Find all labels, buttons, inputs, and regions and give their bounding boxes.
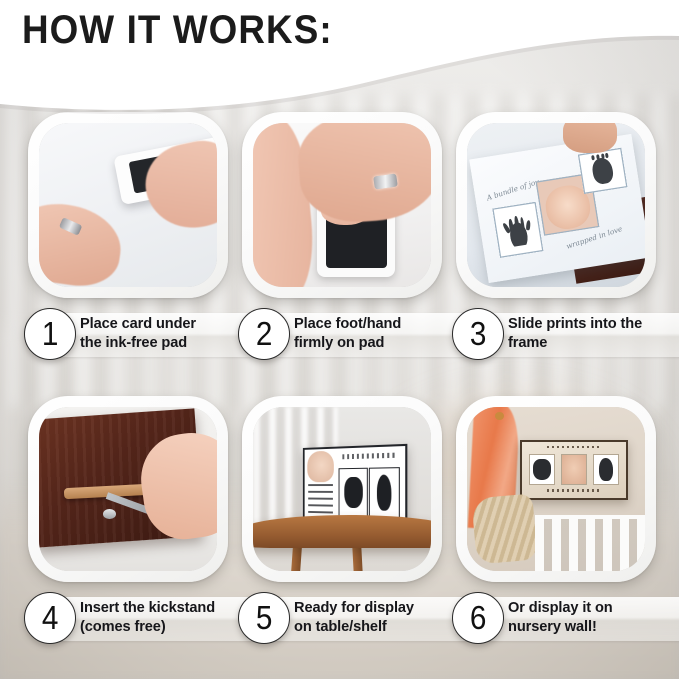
step-5-label-row: 5 Ready for display on table/shelf xyxy=(236,592,465,648)
table-leg-right xyxy=(352,545,362,571)
step-4-number: 4 xyxy=(42,601,59,634)
footprint-shape xyxy=(599,458,613,481)
photo-slide-prints-into-frame: A bundle of joy wrapped in love xyxy=(467,123,645,287)
wall-frame-text-top xyxy=(547,446,601,449)
mat-script-top: A bundle of joy xyxy=(486,177,541,202)
footprint-shape xyxy=(377,475,392,511)
footprint-cell xyxy=(369,468,400,521)
baby-photo-cell xyxy=(561,454,588,485)
step-3-label-line1: Slide prints into the xyxy=(508,315,679,334)
step-3-photo-tile: A bundle of joy wrapped in love xyxy=(456,112,656,298)
step-3-number-badge: 3 xyxy=(452,308,504,360)
handprint-shape xyxy=(533,459,551,480)
handprint-cell xyxy=(492,202,543,258)
step-5-number: 5 xyxy=(256,601,273,634)
step-5: 5 Ready for display on table/shelf xyxy=(236,396,451,582)
page-title: HOW IT WORKS: xyxy=(22,8,333,53)
footprint-cell xyxy=(593,454,620,485)
handprint-cell xyxy=(339,469,368,521)
step-6-label-text: Or display it on nursery wall! xyxy=(508,599,679,638)
knit-blanket xyxy=(471,493,537,564)
wall-frame xyxy=(520,440,627,500)
step-2-number-badge: 2 xyxy=(238,308,290,360)
step-2-label-row: 2 Place foot/hand firmly on pad xyxy=(236,308,465,364)
step-6-photo-inner xyxy=(467,407,645,571)
step-3-label-text: Slide prints into the frame xyxy=(508,315,679,354)
white-crib xyxy=(535,515,645,571)
screw-head xyxy=(103,509,115,519)
baby-photo-shape xyxy=(308,451,334,482)
table-leg-left xyxy=(291,544,302,571)
step-3-number: 3 xyxy=(470,317,487,350)
step-6-label-row: 6 Or display it on nursery wall! xyxy=(450,592,679,648)
step-4-number-badge: 4 xyxy=(24,592,76,644)
step-4-photo-tile xyxy=(28,396,228,582)
step-3-photo-inner: A bundle of joy wrapped in love xyxy=(467,123,645,287)
step-6-label-line2: nursery wall! xyxy=(508,618,679,637)
left-hand-shape xyxy=(39,198,126,287)
footprint-cell xyxy=(578,148,628,194)
photo-display-on-nursery-wall xyxy=(467,407,645,571)
handprint-cell xyxy=(529,454,556,485)
frame-quote-text xyxy=(309,485,334,519)
wall-frame-text-bottom xyxy=(547,489,601,492)
step-3-label-row: 3 Slide prints into the frame xyxy=(450,308,679,364)
step-2-photo-tile xyxy=(242,112,442,298)
thumb-holding-frame xyxy=(563,123,616,153)
step-3: A bundle of joy wrapped in love xyxy=(450,112,665,298)
step-6-number: 6 xyxy=(470,601,487,634)
step-4-label-row: 4 Insert the kickstand (comes free) xyxy=(22,592,251,648)
step-6-number-badge: 6 xyxy=(452,592,504,644)
step-6-label-line1: Or display it on xyxy=(508,599,679,618)
how-it-works-infographic: HOW IT WORKS: 1 xyxy=(0,0,679,679)
step-1-photo-inner xyxy=(39,123,217,287)
photo-place-card-under-pad xyxy=(39,123,217,287)
step-1-label-row: 1 Place card under the ink-free pad xyxy=(22,308,251,364)
frame-name-script xyxy=(343,453,397,459)
step-1-photo-tile xyxy=(28,112,228,298)
handprint-shape xyxy=(344,478,362,510)
step-1-number: 1 xyxy=(42,317,59,350)
step-2-number: 2 xyxy=(256,317,273,350)
step-6-photo-tile xyxy=(456,396,656,582)
frame-mat: A bundle of joy wrapped in love xyxy=(469,134,645,283)
step-5-photo-inner xyxy=(253,407,431,571)
photo-ready-for-display-on-table xyxy=(253,407,431,571)
step-2: 2 Place foot/hand firmly on pad xyxy=(236,112,451,298)
step-3-label-line2: frame xyxy=(508,334,679,353)
photo-press-foot-on-pad xyxy=(253,123,431,287)
adult-hand-shape xyxy=(296,123,431,226)
wooden-table-top xyxy=(253,515,431,548)
photo-insert-kickstand xyxy=(39,407,217,571)
footprint-shape xyxy=(590,156,614,185)
step-1: 1 Place card under the ink-free pad xyxy=(22,112,237,298)
step-5-photo-tile xyxy=(242,396,442,582)
step-2-photo-inner xyxy=(253,123,431,287)
step-1-number-badge: 1 xyxy=(24,308,76,360)
step-6: 6 Or display it on nursery wall! xyxy=(450,396,665,582)
handprint-shape xyxy=(501,212,534,248)
step-4-photo-inner xyxy=(39,407,217,571)
step-4: 4 Insert the kickstand (comes free) xyxy=(22,396,237,582)
step-5-number-badge: 5 xyxy=(238,592,290,644)
